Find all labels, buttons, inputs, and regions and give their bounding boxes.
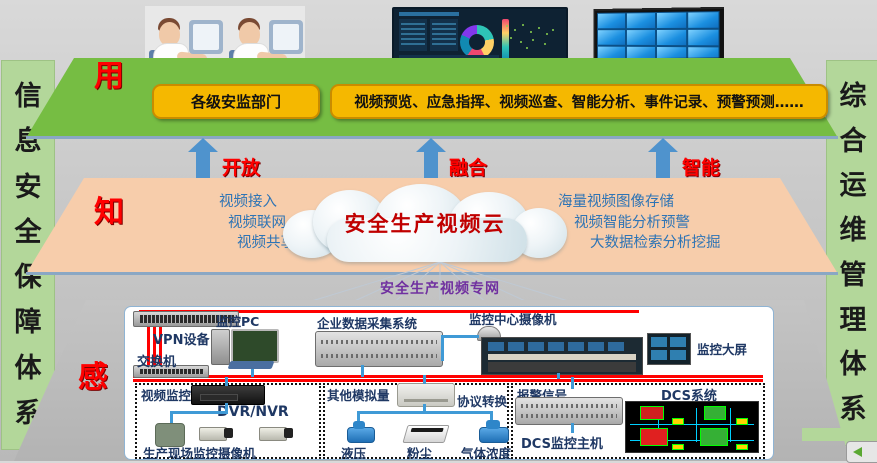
layer-label-sense: 感 <box>78 363 108 393</box>
table-row <box>401 23 425 25</box>
hydraulic-sensor-icon <box>341 421 377 443</box>
camera-lens <box>284 428 293 438</box>
dcs-scada-screen <box>625 401 759 453</box>
wall-cell <box>656 29 687 46</box>
wall-cell <box>626 29 656 46</box>
dacq-link <box>361 365 364 377</box>
label-data-acquisition-system: 企业数据采集系统 <box>317 313 417 332</box>
ctrlroom-link <box>557 373 560 379</box>
wall-cell <box>626 12 656 29</box>
donut-chart-icon <box>460 25 494 59</box>
arrow-shaft <box>424 150 438 180</box>
monitor-screen <box>273 24 299 50</box>
label-other-analog: 其他模拟量 <box>327 385 390 404</box>
camera-body <box>199 427 227 441</box>
dcs-host-icon <box>515 397 623 425</box>
left-panel-char-5: 障 <box>15 309 42 336</box>
table-row <box>401 38 425 40</box>
label-vpn-device: VPN设备 <box>153 329 209 348</box>
wall-cell <box>656 12 687 29</box>
label-video-monitoring: 视频监控 <box>141 385 191 404</box>
fixed-camera-icon-2 <box>259 423 295 443</box>
label-dcs-host: DCS监控主机 <box>521 433 603 452</box>
dashboard-table-right <box>430 19 458 51</box>
table-row <box>401 28 425 30</box>
table-row <box>432 23 456 25</box>
layer-label-know: 知 <box>94 198 124 228</box>
pc-link <box>251 369 254 377</box>
box-dept-label: 各级安监部门 <box>191 91 281 112</box>
dashboard-table-left <box>399 19 427 51</box>
capabilities-right-list: 海量视频图像存储 视频智能分析预警 大数据检索分析挖掘 <box>558 192 768 254</box>
table-row <box>401 43 425 45</box>
arrow-shaft <box>196 150 210 180</box>
right-panel-char-4: 管 <box>840 262 867 289</box>
pc-keyboard-icon <box>228 361 275 369</box>
dcs-downlink <box>571 423 574 433</box>
capability-left-0: 视频接入 <box>125 192 295 213</box>
sensor-body <box>347 427 375 443</box>
label-sensor-hydraulic: 液压 <box>341 443 366 460</box>
sense-layer-device-panel: VPN设备 交换机 监控PC 企业数据采集系统 监控中心摄像机 <box>124 306 774 460</box>
big-screen-icon <box>647 333 691 365</box>
wall-cell <box>687 11 719 29</box>
camera-body <box>259 427 287 441</box>
dvr-branch-v2 <box>225 403 228 414</box>
arrow-label-open: 开放 <box>222 153 260 180</box>
scatter-plot-area <box>502 21 560 51</box>
right-vertical-panel-operations-management: 综 合 运 维 管 理 体 系 <box>826 60 877 446</box>
pc-tower-icon <box>211 329 230 365</box>
capability-right-0: 海量视频图像存储 <box>558 192 768 213</box>
right-panel-char-6: 体 <box>840 351 867 378</box>
capability-left-1: 视频联网 <box>125 213 295 234</box>
sensor-head <box>353 421 365 429</box>
video-wall-frame <box>593 7 724 65</box>
up-arrow-fusion-icon <box>416 138 446 180</box>
right-panel-char-1: 合 <box>840 128 867 155</box>
capability-right-1: 视频智能分析预警 <box>558 213 768 234</box>
dvr-branch-h <box>170 411 228 414</box>
wall-cell <box>597 29 626 46</box>
corner-navigation-widget[interactable] <box>846 441 877 463</box>
dust-sensor-icon <box>402 425 449 443</box>
right-panel-char-5: 理 <box>840 307 867 334</box>
box-apps-label: 视频预览、应急指挥、视频巡查、智能分析、事件记录、预警预测…… <box>354 91 804 112</box>
cloud-shape-video-cloud: 安全生产视频云 <box>283 184 567 262</box>
dashboard-header-bar <box>399 12 459 16</box>
label-monitoring-pc: 监控PC <box>216 311 259 330</box>
camera-link-v <box>441 335 444 361</box>
gas-sensor-icon <box>473 419 513 443</box>
pc-monitor-icon <box>231 329 279 363</box>
server-ports <box>321 354 437 358</box>
label-sensor-gas: 气体浓度 <box>461 443 511 460</box>
private-network-label: 安全生产视频专网 <box>330 278 550 298</box>
layer-label-use: 用 <box>94 62 124 92</box>
play-arrow-icon <box>853 447 862 457</box>
monitor-screen <box>193 24 219 50</box>
table-row <box>432 28 456 30</box>
up-arrow-intelligence-icon <box>648 138 678 180</box>
table-row <box>401 33 425 35</box>
table-row <box>432 33 456 35</box>
right-panel-char-0: 综 <box>840 83 867 110</box>
camera-lens <box>224 428 233 438</box>
arrow-label-fusion: 融合 <box>449 153 487 180</box>
architecture-diagram: 信 息 安 全 保 障 体 系 综 合 运 维 管 理 体 系 <box>0 0 877 461</box>
right-panel-char-7: 系 <box>840 396 867 423</box>
arrow-shaft <box>656 150 670 180</box>
left-panel-char-6: 体 <box>15 355 42 382</box>
right-panel-char-3: 维 <box>840 217 867 244</box>
left-panel-char-0: 信 <box>15 83 42 110</box>
wall-cell <box>597 12 626 29</box>
server-ports <box>521 414 617 418</box>
arrow-label-intelligence: 智能 <box>682 153 720 180</box>
left-panel-char-3: 全 <box>15 219 42 246</box>
label-sensor-dust: 粉尘 <box>407 443 432 460</box>
fixed-camera-icon-1 <box>199 423 235 443</box>
right-panel-char-2: 运 <box>840 172 867 199</box>
cloud-label: 安全生产视频云 <box>283 208 567 238</box>
label-center-camera: 监控中心摄像机 <box>469 309 557 328</box>
dcs-uplink <box>571 377 574 389</box>
corner-green-block <box>802 428 848 441</box>
capability-right-2: 大数据检索分析挖掘 <box>558 233 768 254</box>
left-panel-char-2: 安 <box>15 174 42 201</box>
label-switch: 交换机 <box>137 351 176 370</box>
up-arrow-open-icon <box>188 138 218 180</box>
table-row <box>432 43 456 45</box>
sensor-head <box>486 420 500 429</box>
dvr-nvr-icon <box>191 385 265 405</box>
sensor-branch-2 <box>423 404 426 414</box>
camera-link-h <box>441 335 479 338</box>
server-vents <box>521 404 617 408</box>
converter-uplink <box>423 375 426 384</box>
capabilities-left-list: 视频接入 视频联网 视频共享 <box>125 192 295 254</box>
sensor-body <box>479 427 509 443</box>
data-acquisition-server-icon <box>315 331 443 367</box>
label-big-screen: 监控大屏 <box>697 339 747 358</box>
box-safety-supervision-departments[interactable]: 各级安监部门 <box>152 84 320 119</box>
box-application-functions[interactable]: 视频预览、应急指挥、视频巡查、智能分析、事件记录、预警预测…… <box>330 84 828 119</box>
capability-left-2: 视频共享 <box>125 233 295 254</box>
server-vents <box>321 340 437 344</box>
table-row <box>432 38 456 40</box>
dvr-uplink <box>225 377 228 386</box>
control-room-image <box>481 337 643 375</box>
label-field-cameras: 生产现场监控摄像机 <box>143 443 256 460</box>
protocol-converter-icon <box>397 383 455 407</box>
label-protocol-conversion: 协议转换 <box>457 391 507 410</box>
wall-cell <box>687 29 719 47</box>
